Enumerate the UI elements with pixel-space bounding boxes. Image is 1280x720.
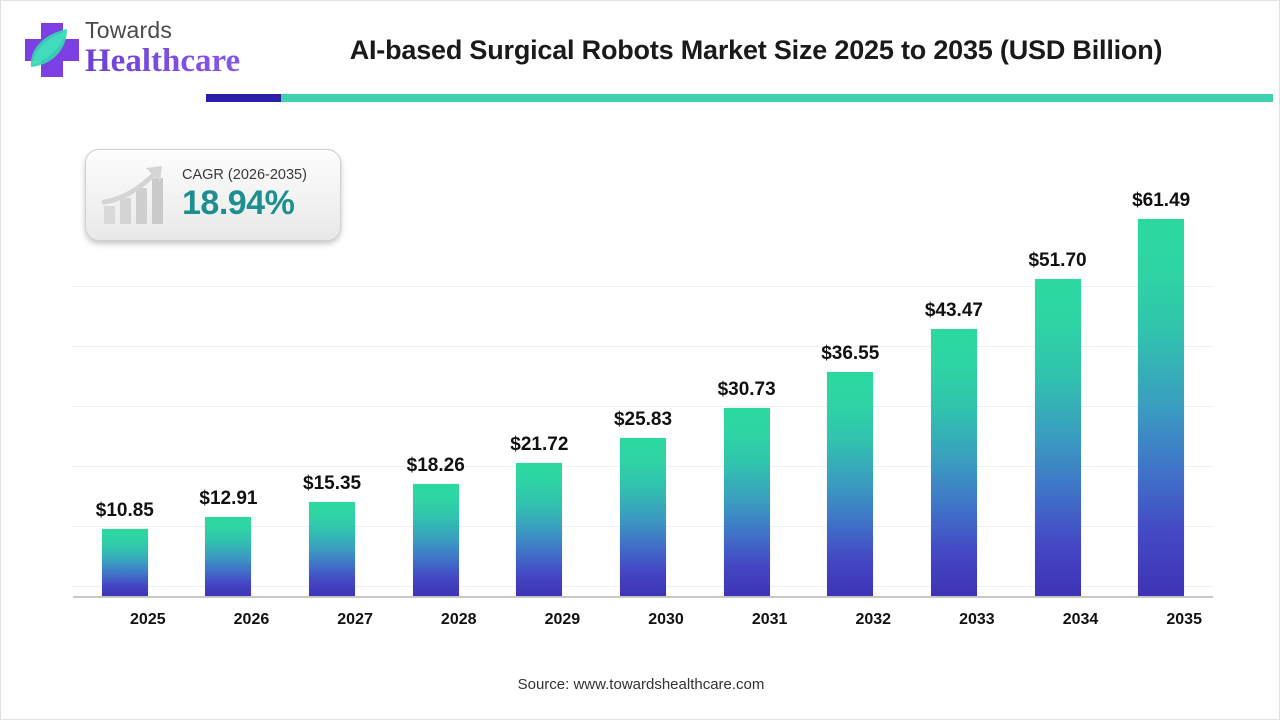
cross-leaf-logo-icon (21, 19, 83, 81)
brand-line-towards: Towards (85, 17, 265, 43)
bar-value-label-2030: $25.83 (586, 409, 700, 431)
bar-value-label-2035: $61.49 (1104, 190, 1218, 212)
x-tick-2031: 2031 (713, 611, 827, 629)
bar-value-label-2032: $36.55 (793, 343, 907, 365)
bar-value-label-2029: $21.72 (482, 434, 596, 456)
x-tick-2028: 2028 (402, 611, 516, 629)
x-tick-2033: 2033 (920, 611, 1034, 629)
bar-2026 (205, 517, 251, 596)
bar-value-label-2028: $18.26 (379, 455, 493, 477)
x-tick-2035: 2035 (1127, 611, 1241, 629)
x-tick-2030: 2030 (609, 611, 723, 629)
page-title: AI-based Surgical Robots Market Size 202… (271, 35, 1241, 66)
bar-2028 (413, 484, 459, 596)
x-tick-2025: 2025 (91, 611, 205, 629)
header-divider (206, 94, 1273, 102)
x-tick-2026: 2026 (194, 611, 308, 629)
bar-2029 (516, 463, 562, 596)
x-tick-2027: 2027 (298, 611, 412, 629)
brand-logo: Towards Healthcare (17, 15, 257, 85)
bar-value-label-2027: $15.35 (275, 473, 389, 495)
bar-value-label-2034: $51.70 (1001, 250, 1115, 272)
bar-2030 (620, 438, 666, 596)
bar-2034 (1035, 279, 1081, 596)
x-axis-line (73, 596, 1213, 598)
x-tick-2032: 2032 (816, 611, 930, 629)
bar-2031 (724, 408, 770, 596)
bar-2027 (309, 502, 355, 596)
bar-value-label-2026: $12.91 (171, 488, 285, 510)
source-note: Source: www.towardshealthcare.com (1, 676, 1280, 693)
bar-value-label-2031: $30.73 (690, 379, 804, 401)
bar-value-label-2025: $10.85 (68, 500, 182, 522)
x-tick-2029: 2029 (505, 611, 619, 629)
bar-2025 (102, 529, 148, 596)
brand-wordmark: Towards Healthcare (85, 17, 265, 79)
x-tick-2034: 2034 (1024, 611, 1138, 629)
bar-value-label-2033: $43.47 (897, 300, 1011, 322)
header: Towards Healthcare AI-based Surgical Rob… (1, 1, 1280, 101)
brand-line-healthcare: Healthcare (85, 43, 265, 79)
bar-2032 (827, 372, 873, 596)
bar-2035 (1138, 219, 1184, 596)
chart-page: Towards Healthcare AI-based Surgical Rob… (0, 0, 1280, 720)
bar-2033 (931, 329, 977, 596)
header-divider-accent (206, 94, 281, 102)
